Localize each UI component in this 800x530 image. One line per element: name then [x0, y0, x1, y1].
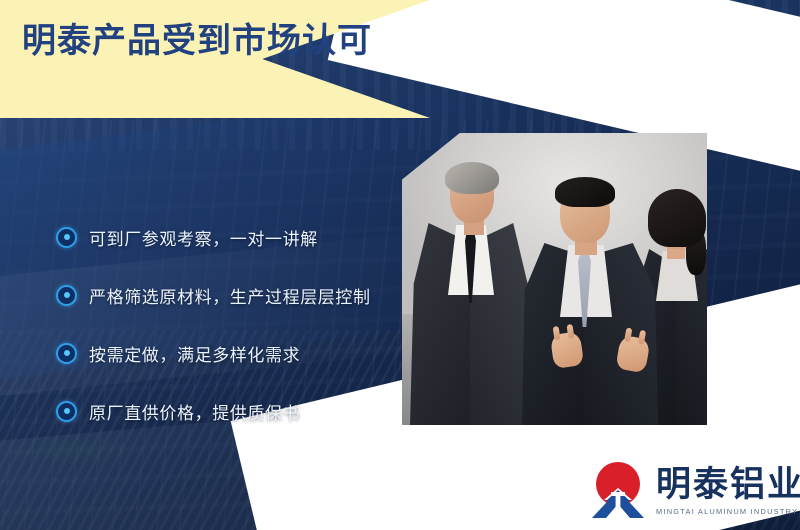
- target-circle-icon: [56, 401, 77, 422]
- business-people-photo: [402, 133, 707, 425]
- feature-list: 可到厂参观考察，一对一讲解 严格筛选原材料，生产过程层层控制 按需定做，满足多样…: [56, 208, 416, 440]
- logo-name-cn: 明泰铝业: [656, 468, 800, 503]
- logo-text: 明泰铝业 MINGTAI ALUMINUM INDUSTRY CO., LTD: [656, 468, 800, 518]
- mingtai-logo-mark-icon: [586, 460, 650, 518]
- target-circle-icon: [56, 343, 77, 364]
- list-item-label: 可到厂参观考察，一对一讲解: [89, 225, 318, 250]
- list-item: 原厂直供价格，提供质保书: [56, 382, 416, 440]
- list-item: 按需定做，满足多样化需求: [56, 324, 416, 382]
- target-circle-icon: [56, 285, 77, 306]
- list-item-label: 严格筛选原材料，生产过程层层控制: [89, 283, 371, 308]
- page-title: 明泰产品受到市场认可: [22, 22, 372, 61]
- hair: [445, 162, 499, 194]
- list-item-label: 原厂直供价格，提供质保书: [89, 399, 300, 424]
- person-asian-businessman: [522, 181, 658, 425]
- list-item: 严格筛选原材料，生产过程层层控制: [56, 266, 416, 324]
- logo-name-en: MINGTAI ALUMINUM INDUSTRY CO., LTD: [656, 507, 800, 516]
- company-logo[interactable]: 明泰铝业 MINGTAI ALUMINUM INDUSTRY CO., LTD: [586, 460, 800, 518]
- person-western-businessman: [412, 167, 530, 425]
- hair: [555, 177, 615, 207]
- list-item-label: 按需定做，满足多样化需求: [89, 341, 300, 366]
- list-item: 可到厂参观考察，一对一讲解: [56, 208, 416, 266]
- target-circle-icon: [56, 227, 77, 248]
- promotional-banner: 明泰产品受到市场认可 可到厂参观考察，一对一讲解 严格筛选原材料，生产过程层层控…: [0, 0, 800, 530]
